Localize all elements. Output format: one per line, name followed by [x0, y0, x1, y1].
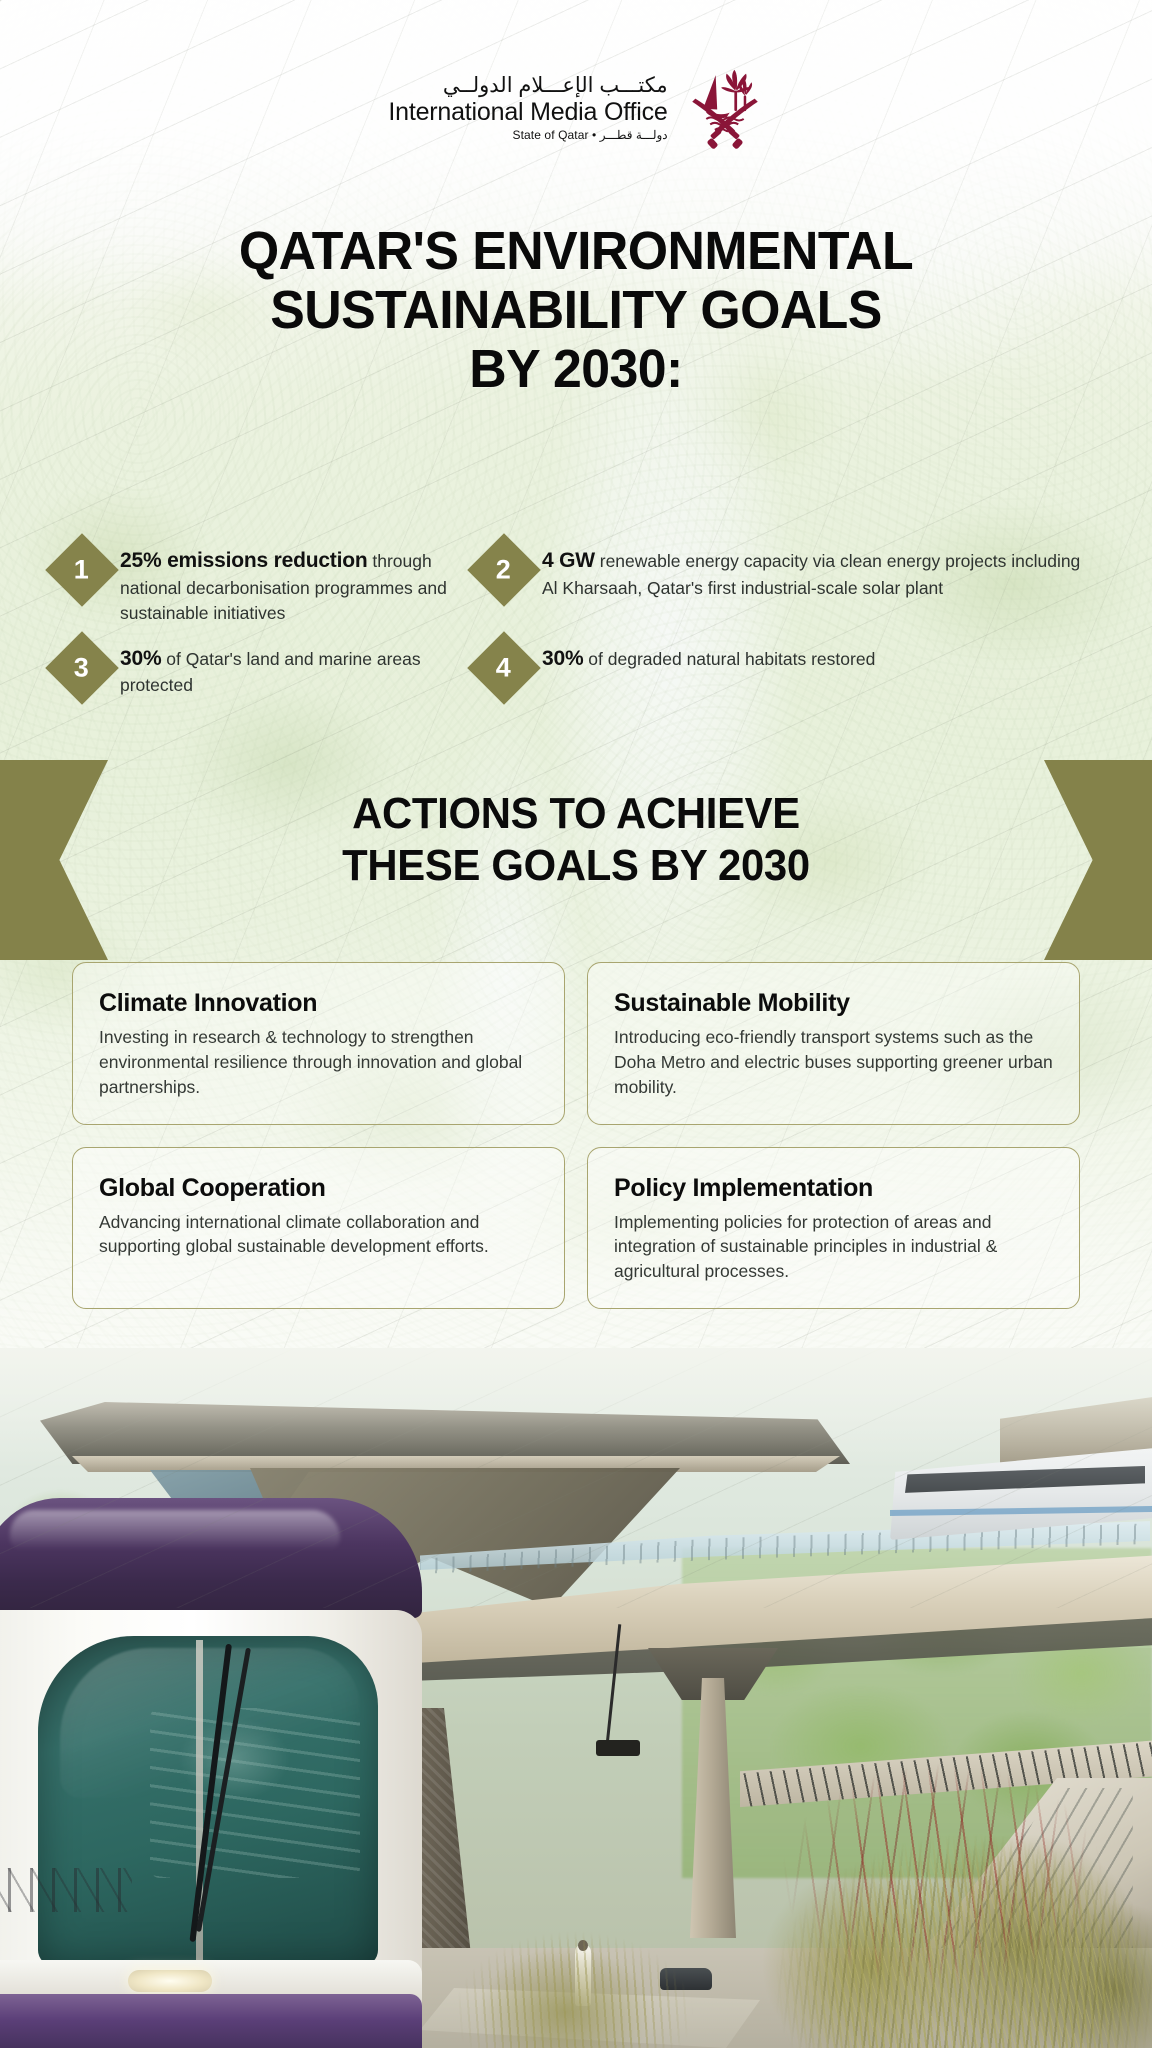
action-card-title-4: Policy Implementation — [614, 1174, 1053, 1203]
logo-english-name: International Media Office — [388, 100, 667, 125]
train-interior-through-glass — [150, 1708, 360, 1878]
goal-number-diamond-1: 1 — [45, 533, 119, 607]
action-card-title-3: Global Cooperation — [99, 1174, 538, 1203]
goal-highlight-1: 25% emissions reduction — [120, 549, 367, 572]
goal-text-3: 30% of Qatar's land and marine areas pro… — [120, 638, 460, 699]
train-headlight — [128, 1970, 212, 1992]
actions-banner: ACTIONS TO ACHIEVE THESE GOALS BY 2030 — [0, 760, 1152, 960]
goal-highlight-2: 4 GW — [542, 549, 595, 572]
action-card-climate-innovation: Climate Innovation Investing in research… — [72, 962, 565, 1125]
train-arabic-pattern-motif — [0, 1868, 132, 1912]
action-card-body-4: Implementing policies for protection of … — [614, 1210, 1053, 1285]
actions-banner-line-2: THESE GOALS BY 2030 — [29, 840, 1123, 892]
action-card-title-1: Climate Innovation — [99, 989, 538, 1018]
foreground-grass-blades-right — [672, 1708, 1152, 2048]
action-cards-grid: Climate Innovation Investing in research… — [72, 962, 1080, 1309]
title-line-1: QATAR'S ENVIRONMENTAL — [23, 222, 1129, 281]
photo-top-blend — [0, 1348, 1152, 1468]
goal-highlight-3: 30% — [120, 647, 161, 670]
logo-subtitle: State of Qatar • دولـــة قطـــر — [388, 129, 667, 141]
train-lower-skirt — [0, 1994, 422, 2048]
goals-list: 1 25% emissions reduction through nation… — [56, 540, 1096, 698]
logo-arabic-name: مكتـــب الإعـــلام الدولــي — [388, 75, 667, 96]
actions-banner-title: ACTIONS TO ACHIEVE THESE GOALS BY 2030 — [29, 788, 1123, 892]
title-line-2: SUSTAINABILITY GOALS — [23, 281, 1129, 340]
title-line-3: BY 2030: — [23, 340, 1129, 399]
qatar-state-emblem-icon — [686, 62, 764, 154]
infographic-poster: مكتـــب الإعـــلام الدولــي Internationa… — [0, 0, 1152, 2048]
overhead-line-bracket — [596, 1740, 640, 1756]
goal-number-3: 3 — [74, 654, 89, 681]
goal-text-1: 25% emissions reduction through national… — [120, 540, 460, 626]
goal-number-2: 2 — [496, 557, 511, 584]
action-card-body-1: Investing in research & technology to st… — [99, 1025, 538, 1100]
goal-item-4: 4 30% of degraded natural habitats resto… — [478, 638, 1096, 699]
goal-item-2: 2 4 GW renewable energy capacity via cle… — [478, 540, 1096, 626]
goal-body-4: of degraded natural habitats restored — [583, 649, 875, 669]
logo-text-block: مكتـــب الإعـــلام الدولــي Internationa… — [388, 75, 667, 141]
goal-number-diamond-2: 2 — [467, 533, 541, 607]
goal-text-4: 30% of degraded natural habitats restore… — [542, 638, 875, 674]
goal-number-1: 1 — [74, 557, 89, 584]
goal-body-3: of Qatar's land and marine areas protect… — [120, 649, 421, 696]
goal-text-2: 4 GW renewable energy capacity via clean… — [542, 540, 1096, 601]
doha-metro-station-photo — [0, 1348, 1152, 2048]
action-card-global-cooperation: Global Cooperation Advancing internation… — [72, 1147, 565, 1310]
action-card-body-2: Introducing eco-friendly transport syste… — [614, 1025, 1053, 1100]
action-card-sustainable-mobility: Sustainable Mobility Introducing eco-fri… — [587, 962, 1080, 1125]
goal-item-3: 3 30% of Qatar's land and marine areas p… — [56, 638, 460, 699]
action-card-body-3: Advancing international climate collabor… — [99, 1210, 538, 1260]
action-card-title-2: Sustainable Mobility — [614, 989, 1053, 1018]
actions-banner-line-1: ACTIONS TO ACHIEVE — [29, 788, 1123, 840]
goal-body-2: renewable energy capacity via clean ener… — [542, 551, 1080, 598]
goal-number-4: 4 — [496, 654, 511, 681]
goal-item-1: 1 25% emissions reduction through nation… — [56, 540, 460, 626]
media-office-logo: مكتـــب الإعـــلام الدولــي Internationa… — [0, 62, 1152, 154]
goal-number-diamond-3: 3 — [45, 631, 119, 705]
action-card-policy-implementation: Policy Implementation Implementing polic… — [587, 1147, 1080, 1310]
goal-number-diamond-4: 4 — [467, 631, 541, 705]
page-title: QATAR'S ENVIRONMENTAL SUSTAINABILITY GOA… — [23, 222, 1129, 399]
goal-highlight-4: 30% — [542, 647, 583, 670]
